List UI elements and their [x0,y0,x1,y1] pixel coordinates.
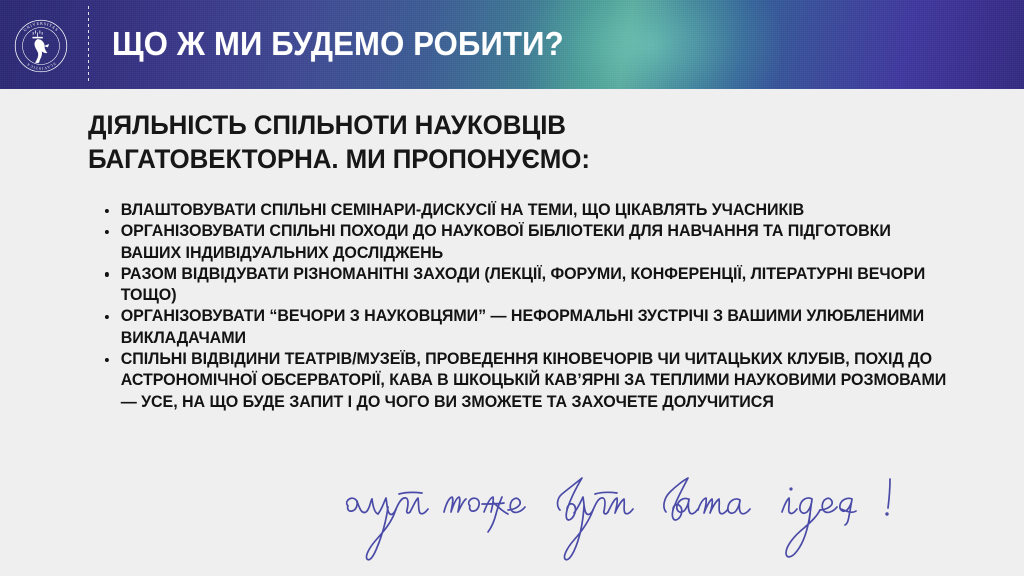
list-item: РАЗОМ ВІДВІДУВАТИ РІЗНОМАНІТНІ ЗАХОДИ (Л… [101,264,954,307]
list-item: ВЛАШТОВУВАТИ СПІЛЬНІ СЕМІНАРИ-ДИСКУСІЇ Н… [101,200,954,221]
university-seal-logo: UNIVERSITAS SLAVISTICA [13,18,69,74]
slide-title: ЩО Ж МИ БУДЕМО РОБИТИ? [112,23,564,65]
list-item: СПІЛЬНІ ВІДВІДИНИ ТЕАТРІВ/МУЗЕЇВ, ПРОВЕД… [101,349,954,413]
handwritten-note: отут може бути ваша ідея ! [336,466,984,562]
list-item: ОРГАНІЗОВУВАТИ СПІЛЬНІ ПОХОДИ ДО НАУКОВО… [101,221,954,264]
header-vertical-divider [88,6,89,84]
list-item: ОРГАНІЗОВУВАТИ “ВЕЧОРИ З НАУКОВЦЯМИ” — Н… [101,306,954,349]
slide-header-bar: UNIVERSITAS SLAVISTICA ЩО Ж МИ БУДЕМО РО… [0,0,1024,89]
subtitle-line-2: БАГАТОВЕКТОРНА. МИ ПРОПОНУЄМО: [88,142,818,176]
subtitle-line-1: ДІЯЛЬНІСТЬ СПІЛЬНОТИ НАУКОВЦІВ [88,108,818,142]
svg-text:UNIVERSITAS: UNIVERSITAS [22,21,59,33]
activities-bullet-list: ВЛАШТОВУВАТИ СПІЛЬНІ СЕМІНАРИ-ДИСКУСІЇ Н… [101,200,967,413]
section-subtitle: ДІЯЛЬНІСТЬ СПІЛЬНОТИ НАУКОВЦІВ БАГАТОВЕК… [88,108,818,176]
